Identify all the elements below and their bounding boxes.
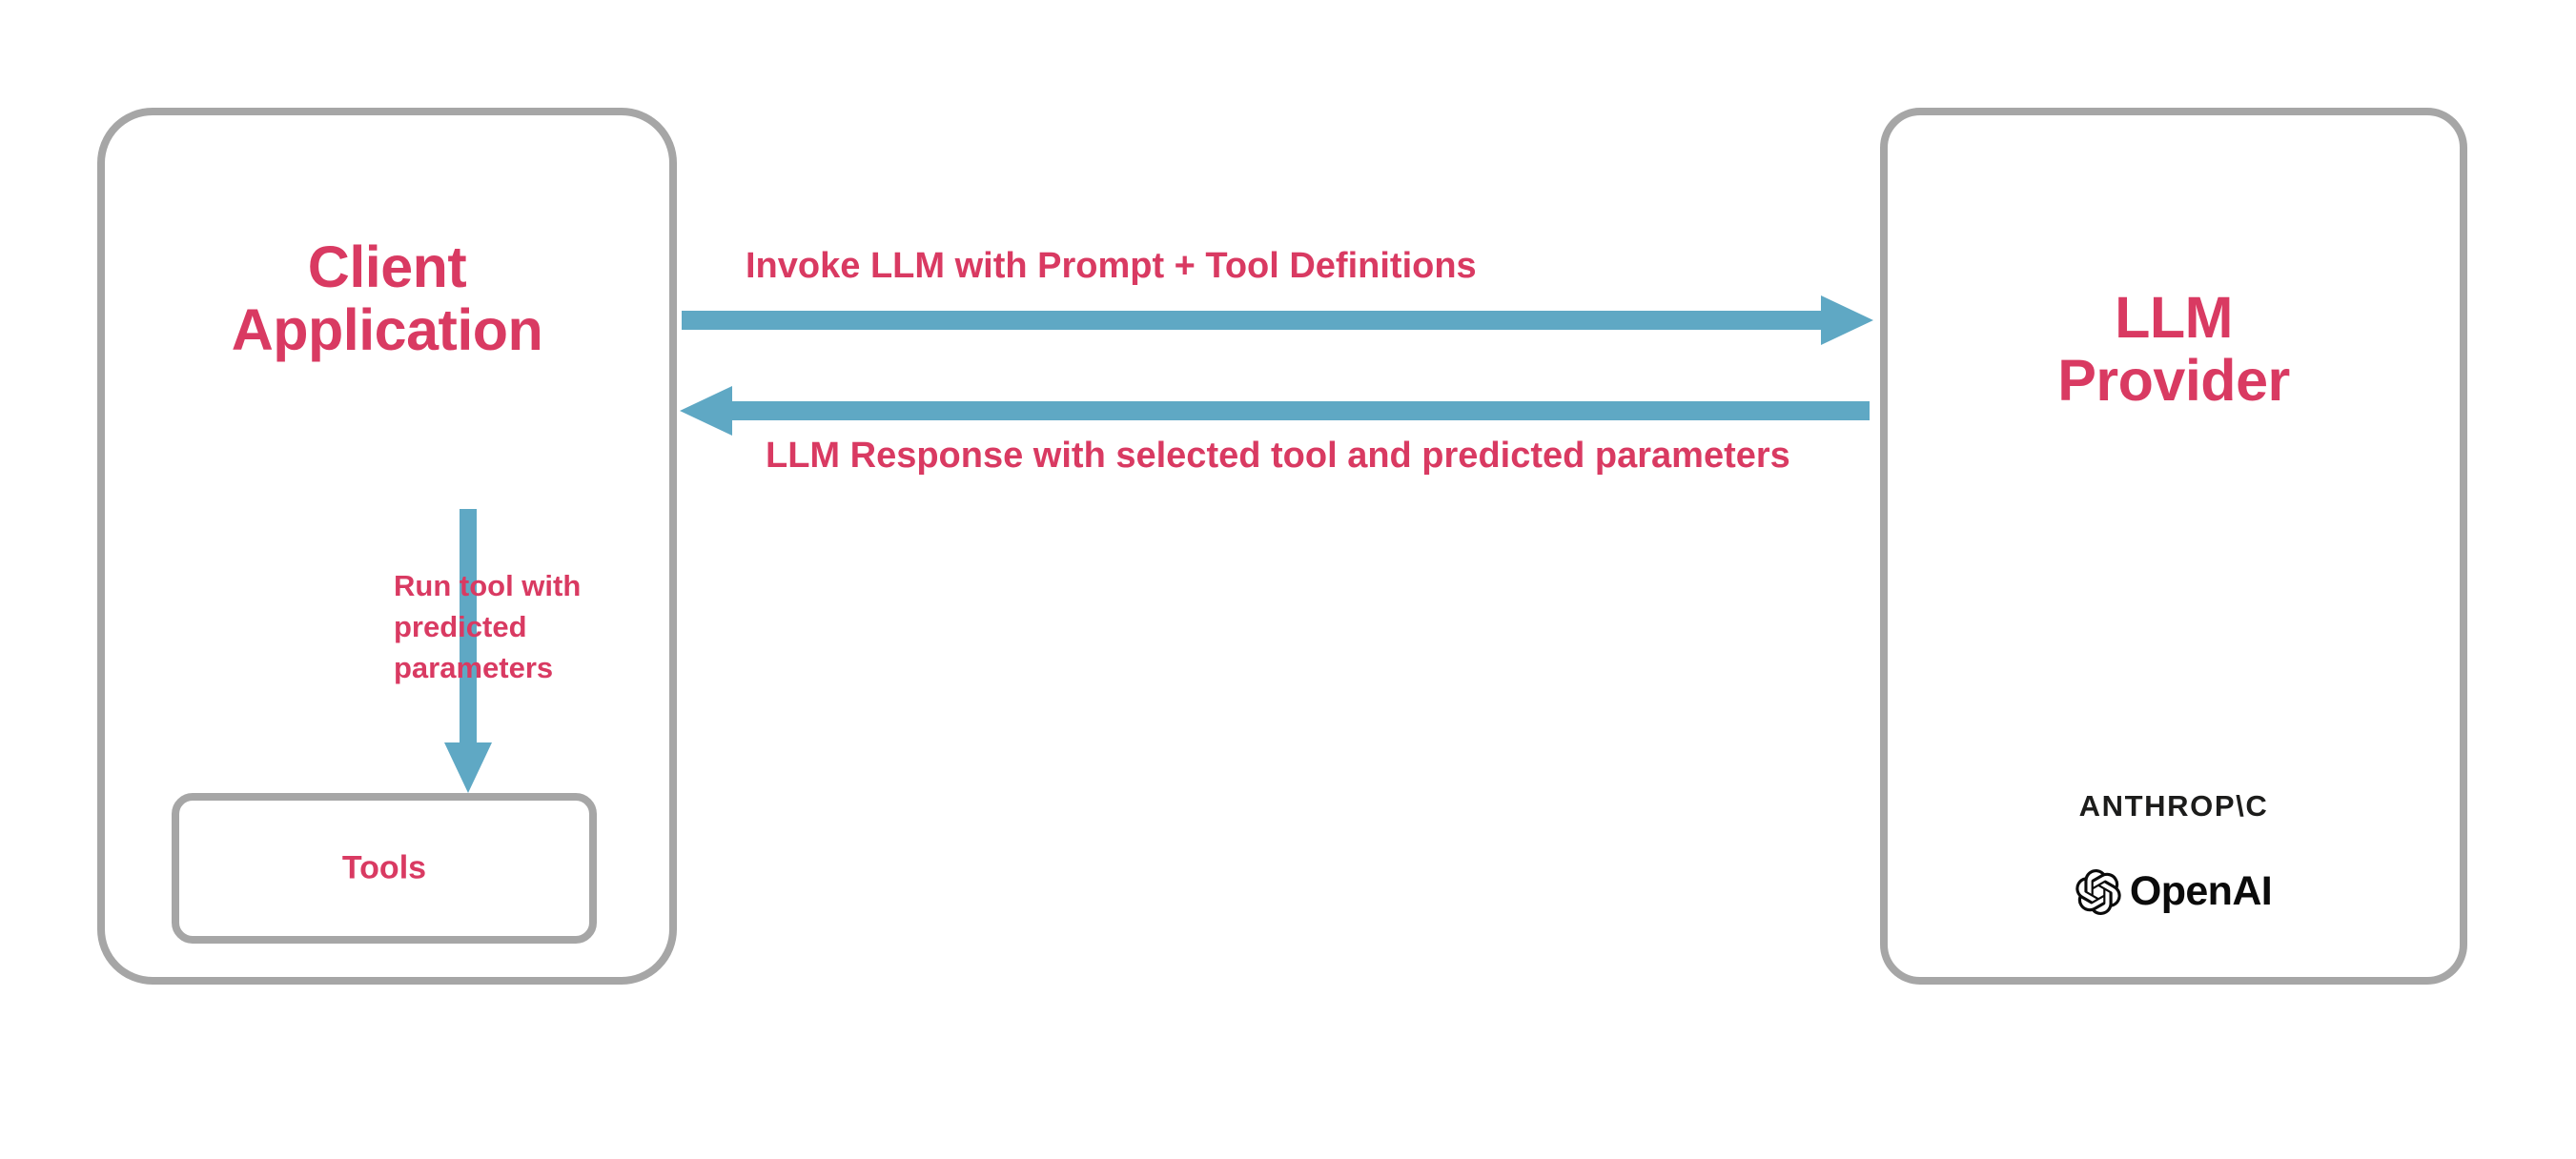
openai-logo: OpenAI (1888, 868, 2460, 915)
openai-knot-icon (2075, 869, 2121, 915)
llm-provider-node[interactable]: LLM Provider ANTHROP\C OpenAI (1880, 108, 2467, 985)
anthropic-logo: ANTHROP\C (1888, 789, 2460, 823)
llm-response-label: LLM Response with selected tool and pred… (766, 436, 1790, 477)
client-application-title: Client Application (105, 236, 669, 362)
tools-node[interactable]: Tools (172, 793, 597, 944)
client-application-node[interactable]: Client Application Tools (97, 108, 677, 985)
llm-provider-title: LLM Provider (1888, 287, 2460, 413)
invoke-llm-label: Invoke LLM with Prompt + Tool Definition… (746, 246, 1477, 287)
invoke-llm-arrow (682, 295, 1873, 345)
llm-response-arrow (680, 386, 1870, 436)
run-tool-label: Run tool with predicted parameters (394, 566, 670, 688)
openai-wordmark: OpenAI (2130, 868, 2272, 915)
tools-label: Tools (179, 850, 589, 887)
diagram-canvas: Client Application Tools LLM Provider AN… (0, 0, 2576, 1159)
